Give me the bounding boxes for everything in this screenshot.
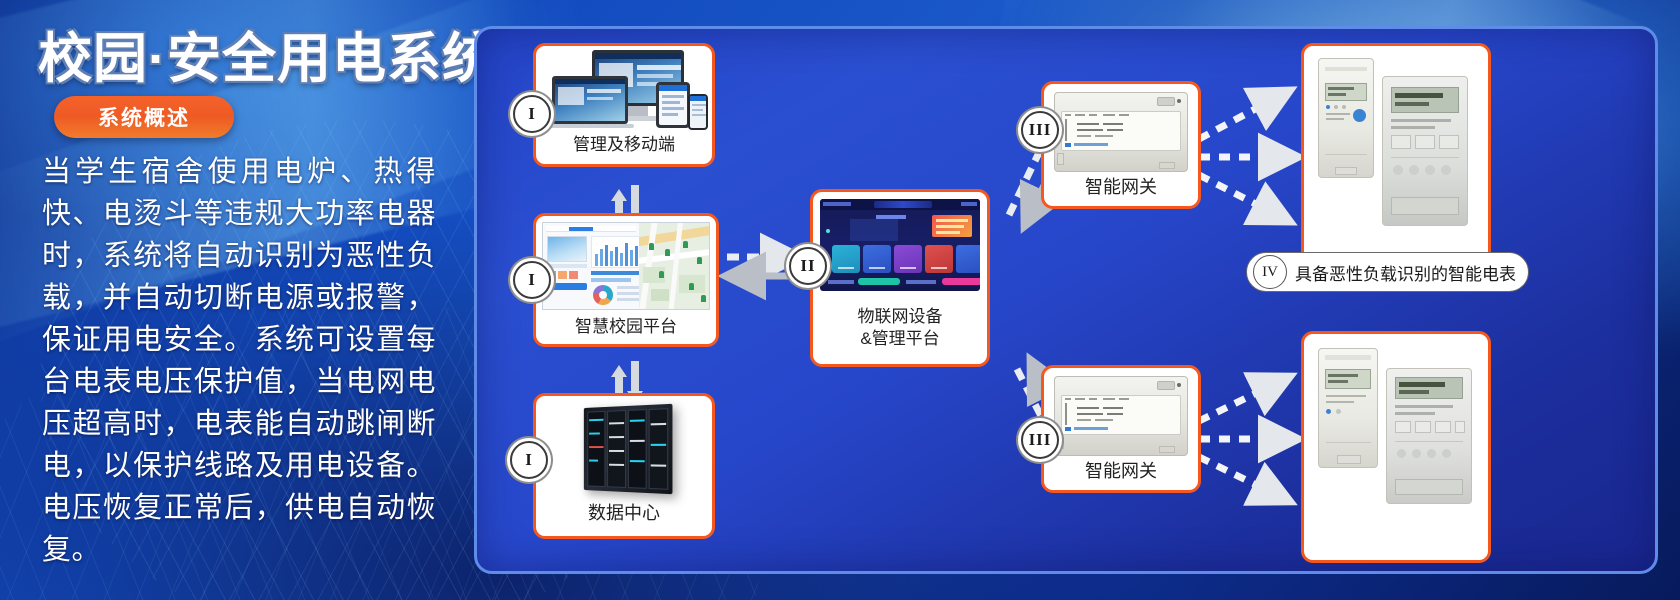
node-iot-platform[interactable]: 物联网设备 &管理平台 (810, 189, 990, 367)
node-label: 智能网关 (1044, 176, 1198, 198)
badge-campus-platform: I (513, 261, 551, 299)
badge-data-center: I (510, 441, 548, 479)
multi-circuit-meter-icon (1386, 368, 1472, 504)
smart-gateway-icon (1044, 84, 1198, 172)
iot-tablet-icon (813, 192, 987, 298)
meter-group-label-text: 具备恶性负载识别的智能电表 (1295, 260, 1516, 285)
poster-canvas: 校园·安全用电系统 系统概述 当学生宿舍使用电炉、热得快、电烫斗等违规大功率电器… (0, 0, 1680, 600)
section-badge: 系统概述 (54, 96, 234, 138)
din-rail-meter-icon (1318, 348, 1378, 468)
node-label: 智能网关 (1044, 460, 1198, 482)
meter-group-top[interactable] (1301, 43, 1491, 275)
devices-icon (536, 46, 712, 130)
node-label: 数据中心 (536, 502, 712, 524)
node-campus-platform[interactable]: 智慧校园平台 (533, 213, 719, 347)
badge-gateway-bottom: III (1021, 421, 1059, 459)
dashboard-map-icon (536, 216, 716, 310)
intro-column: 校园·安全用电系统 系统概述 当学生宿舍使用电炉、热得快、电烫斗等违规大功率电器… (0, 0, 470, 600)
badge-gateway-top: III (1021, 111, 1059, 149)
architecture-diagram-panel: 管理及移动端 I (474, 26, 1658, 574)
three-phase-meter-icon (1382, 76, 1468, 226)
node-label: 管理及移动端 (536, 134, 712, 156)
node-label-line2: &管理平台 (813, 328, 987, 350)
badge-admin-mobile: I (513, 95, 551, 133)
smart-gateway-icon (1044, 368, 1198, 456)
node-label: 智慧校园平台 (536, 316, 716, 338)
node-admin-mobile[interactable]: 管理及移动端 (533, 43, 715, 167)
node-label-line1: 物联网设备 (813, 306, 987, 328)
badge-iot-platform: II (789, 247, 827, 285)
node-data-center[interactable]: 数据中心 (533, 393, 715, 539)
server-rack-icon (536, 396, 712, 500)
meter-group-label[interactable]: IV 具备恶性负载识别的智能电表 (1246, 252, 1529, 292)
system-description: 当学生宿舍使用电炉、热得快、电烫斗等违规大功率电器时，系统将自动识别为恶性负载，… (42, 150, 436, 570)
node-gateway-bottom[interactable]: 智能网关 (1041, 365, 1201, 493)
badge-meter-group: IV (1253, 255, 1287, 289)
meter-group-bottom[interactable] (1301, 331, 1491, 563)
page-title: 校园·安全用电系统 (38, 14, 497, 93)
node-gateway-top[interactable]: 智能网关 (1041, 81, 1201, 209)
single-phase-meter-icon (1318, 58, 1374, 178)
